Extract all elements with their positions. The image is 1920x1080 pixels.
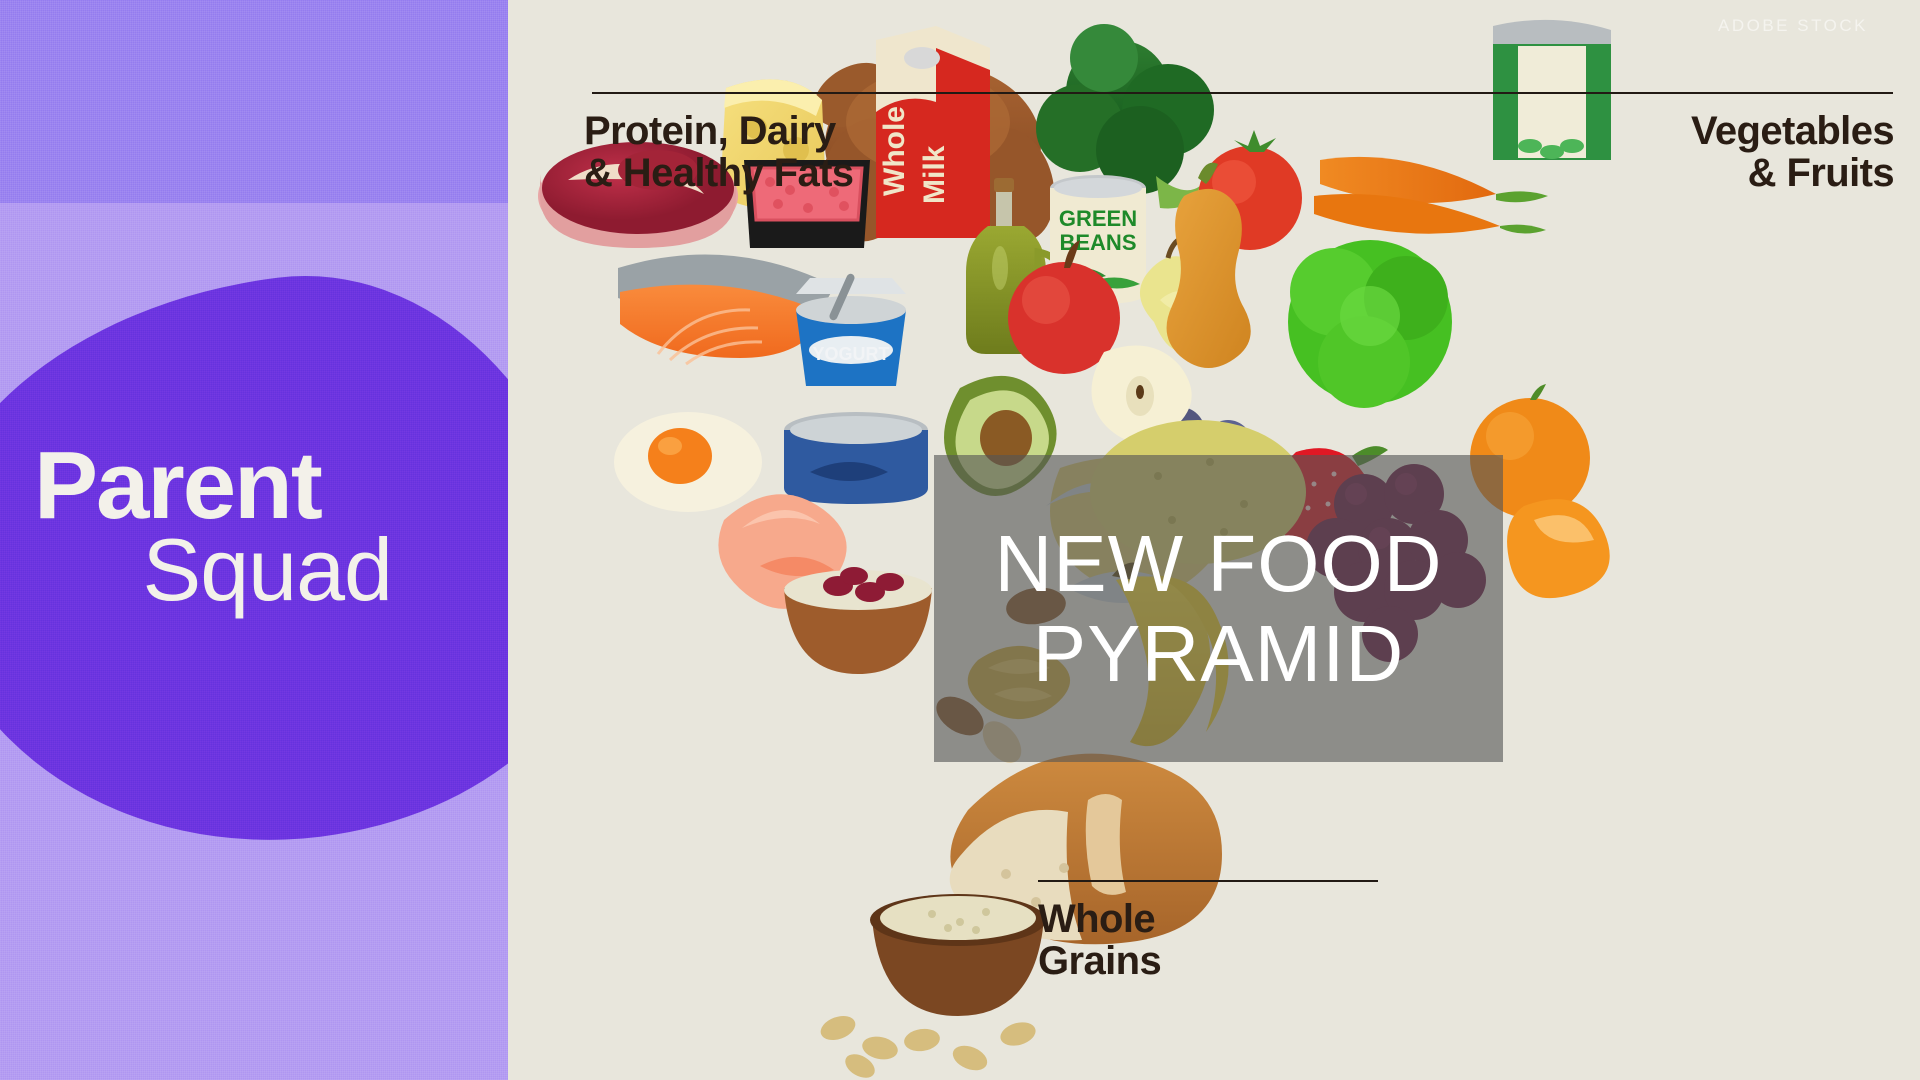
category-label-protein-line1: Protein, Dairy [584, 109, 836, 153]
rule-protein [592, 92, 1592, 94]
food-oatmeal-bowl [870, 894, 1046, 1016]
rule-grains [1038, 880, 1378, 882]
category-label-protein: Protein, Dairy & Healthy Fats [508, 110, 1004, 195]
food-oat-flakes [817, 1012, 1038, 1080]
food-beans-bowl [784, 567, 932, 674]
brand-logo-line2: Squad [34, 528, 504, 612]
poster-root: Parent Squad ADOBE STOCK [0, 0, 1920, 1080]
brand-logo-line1: Parent [34, 440, 504, 532]
food-orange-slice [1507, 499, 1610, 598]
title-line1: NEW FOOD [995, 519, 1443, 609]
rule-vegetables [1543, 92, 1893, 94]
category-label-grains: Whole Grains [1038, 898, 1338, 983]
label-yogurt: YOGURT [812, 344, 889, 364]
content-area: ADOBE STOCK [508, 0, 1920, 1080]
title-overlay: NEW FOOD PYRAMID [934, 455, 1503, 762]
brand-band-top [0, 0, 508, 203]
title-line2: PYRAMID [1033, 609, 1405, 699]
category-label-vegetables-line2: & Fruits [1748, 151, 1894, 195]
food-lettuce [1288, 240, 1452, 408]
food-fried-egg [614, 412, 762, 512]
category-label-grains-line1: Whole [1038, 897, 1155, 941]
label-green-beans-line1: GREEN [1059, 206, 1137, 231]
category-label-grains-line2: Grains [1038, 939, 1161, 983]
category-label-vegetables: Vegetables & Fruits [1508, 110, 1894, 195]
brand-logo: Parent Squad [34, 440, 504, 613]
category-label-protein-line2: & Healthy Fats [584, 151, 853, 195]
category-label-vegetables-line1: Vegetables [1691, 109, 1894, 153]
brand-panel: Parent Squad [0, 0, 508, 1080]
food-canned-tuna [784, 412, 928, 504]
food-yogurt-cup: YOGURT [796, 273, 906, 386]
